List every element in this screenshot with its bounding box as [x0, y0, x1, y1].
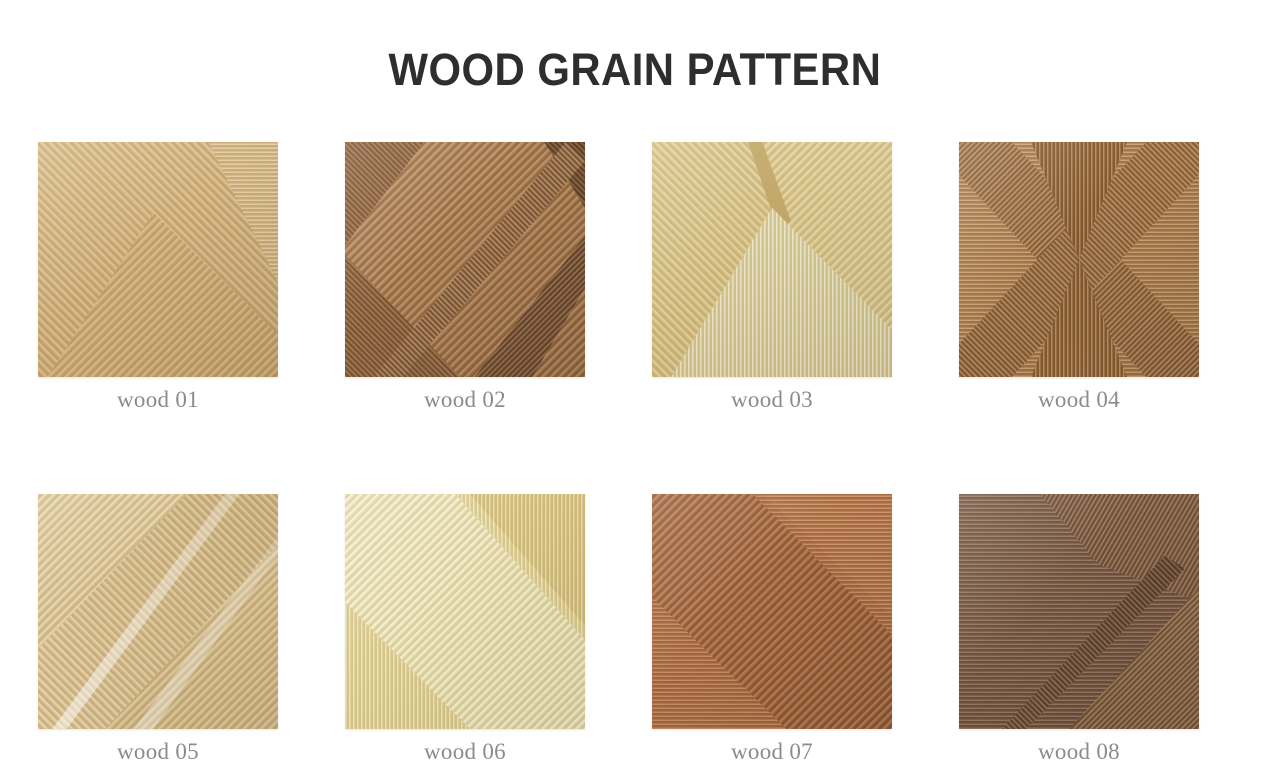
wood-swatch-06[interactable]: [345, 494, 585, 729]
swatch-cell-wood-02[interactable]: wood 02: [345, 142, 585, 415]
swatch-cell-wood-05[interactable]: wood 05: [38, 494, 278, 767]
swatch-cell-wood-06[interactable]: wood 06: [345, 494, 585, 767]
title-container: WOOD GRAIN PATTERN: [0, 0, 1269, 92]
swatch-cell-wood-03[interactable]: wood 03: [652, 142, 892, 415]
swatch-row-2: wood 05 wood 06: [38, 494, 1232, 767]
swatch-label-wood-02: wood 02: [424, 385, 506, 415]
swatch-label-wood-07: wood 07: [731, 737, 813, 767]
swatch-label-wood-04: wood 04: [1038, 385, 1120, 415]
swatch-grid: wood 01 wood 02: [38, 142, 1232, 767]
wood-swatch-05[interactable]: [38, 494, 278, 729]
swatch-cell-wood-07[interactable]: wood 07: [652, 494, 892, 767]
wood-swatch-08[interactable]: [959, 494, 1199, 729]
wood-swatch-07[interactable]: [652, 494, 892, 729]
swatch-cell-wood-04[interactable]: wood 04: [959, 142, 1199, 415]
wood-swatch-01[interactable]: [38, 142, 278, 377]
swatch-label-wood-08: wood 08: [1038, 737, 1120, 767]
swatch-label-wood-06: wood 06: [424, 737, 506, 767]
swatch-label-wood-01: wood 01: [117, 385, 199, 415]
swatch-label-wood-03: wood 03: [731, 385, 813, 415]
wood-swatch-03[interactable]: [652, 142, 892, 377]
wood-pattern-poster: WOOD GRAIN PATTERN wood 01: [0, 0, 1269, 783]
swatch-row-1: wood 01 wood 02: [38, 142, 1232, 415]
wood-swatch-02[interactable]: [345, 142, 585, 377]
swatch-label-wood-05: wood 05: [117, 737, 199, 767]
swatch-cell-wood-08[interactable]: wood 08: [959, 494, 1199, 767]
page-title: WOOD GRAIN PATTERN: [388, 47, 881, 92]
wood-swatch-04[interactable]: [959, 142, 1199, 377]
swatch-cell-wood-01[interactable]: wood 01: [38, 142, 278, 415]
